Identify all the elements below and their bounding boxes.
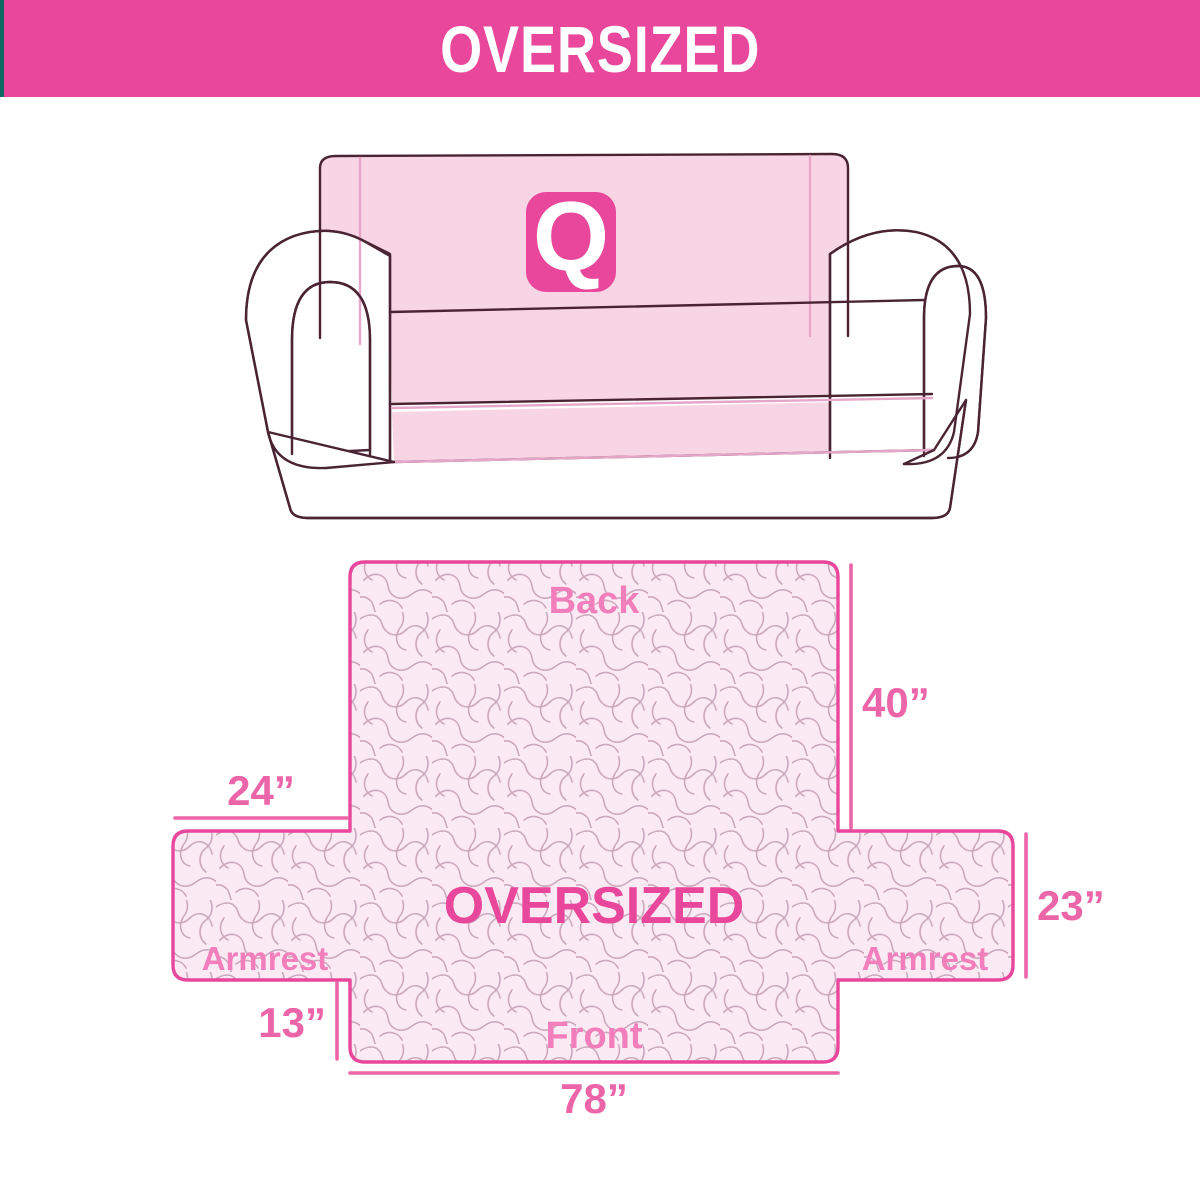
dimension-armrest-width: 24” [175, 767, 347, 818]
dimension-front-width: 78” [350, 1073, 838, 1122]
sofa-left-arm-roll [292, 282, 370, 454]
page-title: OVERSIZED [440, 16, 760, 82]
panel-label-armrest-left: Armrest [202, 940, 329, 977]
sofa-illustration: Q [232, 132, 988, 524]
dimension-front-height: 13” [258, 983, 337, 1059]
header-banner: OVERSIZED [0, 0, 1200, 97]
diagram-center-label: OVERSIZED [444, 877, 745, 935]
dimension-armrest-height: 23” [1026, 834, 1105, 977]
dimension-label-78: 78” [560, 1075, 628, 1122]
panel-label-armrest-right: Armrest [862, 940, 989, 977]
brand-badge: Q [526, 181, 616, 292]
dimension-diagram: Back Front Armrest Armrest OVERSIZED 40”… [0, 540, 1200, 1140]
sofa-body-group [246, 154, 986, 518]
dimension-label-40: 40” [862, 679, 930, 726]
dimension-back-height: 40” [851, 565, 930, 828]
header-edge-strip [0, 0, 4, 97]
brand-badge-letter: Q [533, 181, 609, 291]
dimension-label-24: 24” [227, 767, 295, 814]
panel-label-back: Back [549, 580, 641, 622]
panel-label-front: Front [545, 1015, 642, 1057]
dimension-label-13: 13” [258, 999, 326, 1046]
dimension-label-23: 23” [1037, 882, 1105, 929]
